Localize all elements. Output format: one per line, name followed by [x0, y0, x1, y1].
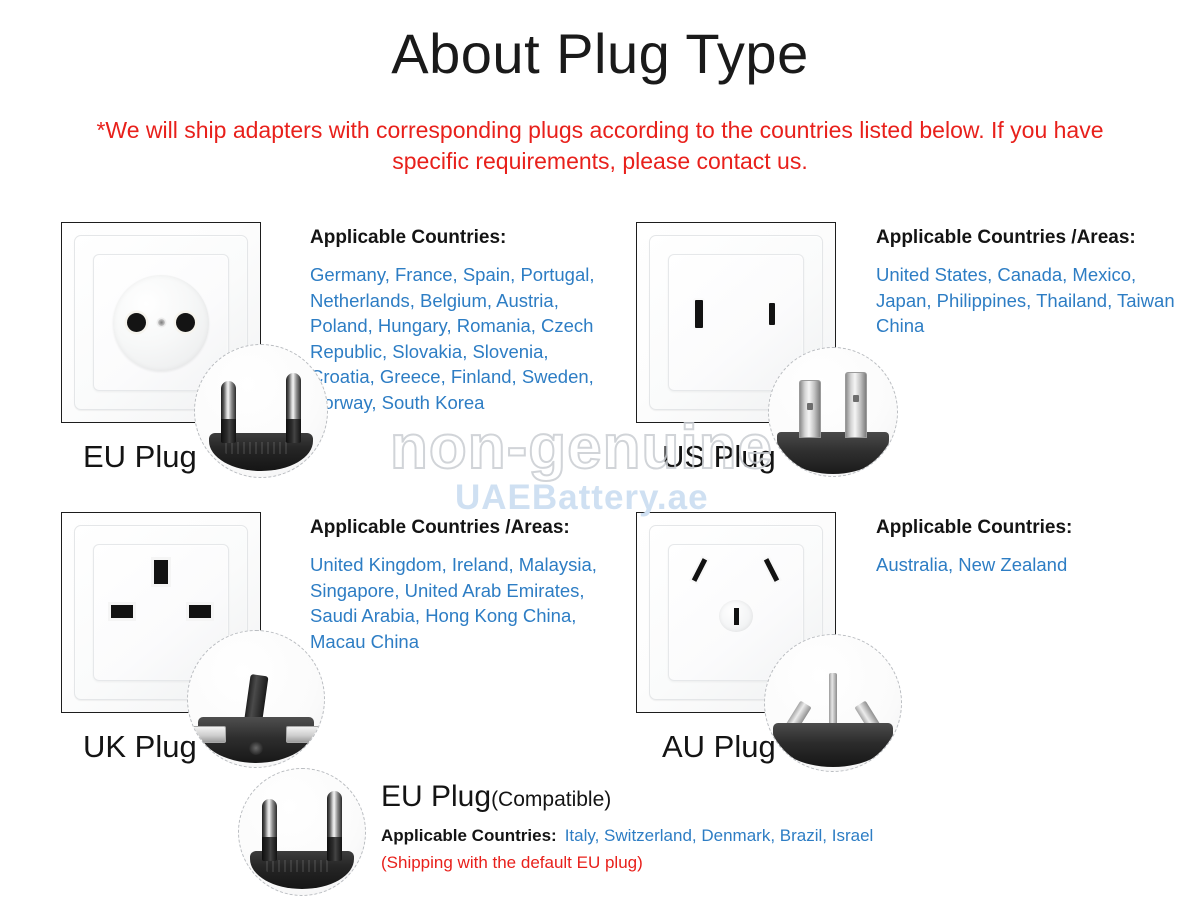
plug-photo-inset-eu [194, 344, 328, 478]
uk-plug-pin-left-icon [192, 726, 226, 743]
plug-photo-inset-eu-compatible [238, 768, 366, 896]
eu-compatible-title-suffix: (Compatible) [491, 788, 611, 811]
countries-column-au: Applicable Countries: Australia, New Zea… [876, 512, 1176, 578]
plug-photo-inset-uk [187, 630, 325, 768]
applicable-countries-au: Australia, New Zealand [876, 552, 1176, 578]
page-title: About Plug Type [0, 22, 1200, 86]
uk-slot-neutral-icon [189, 605, 211, 618]
us-plug-blade-right-icon [845, 372, 867, 438]
applicable-heading-eu: Applicable Countries: [310, 226, 610, 250]
plug-block-us: US Plug Applicable Countries /Areas: Uni… [636, 222, 836, 423]
eu-hole-right-icon [176, 313, 195, 332]
plug-photo-inset-us [768, 347, 898, 477]
plug-label-au: AU Plug [662, 730, 776, 764]
au-plug-body-icon [773, 723, 893, 767]
countries-column-us: Applicable Countries /Areas: United Stat… [876, 222, 1176, 339]
eu-compatible-countries: Italy, Switzerland, Denmark, Brazil, Isr… [565, 826, 874, 845]
plug-type-infographic: About Plug Type *We will ship adapters w… [0, 0, 1200, 900]
eu-plug-pin-left-icon [221, 381, 236, 443]
au-slot-earth-icon [734, 608, 739, 625]
plug-label-us: US Plug [662, 440, 776, 474]
eu-compatible-countries-row: Applicable Countries:Italy, Switzerland,… [381, 824, 1200, 847]
eu-round-recess [113, 275, 209, 371]
us-plug-blade-left-icon [799, 380, 821, 438]
countries-column-eu: Applicable Countries: Germany, France, S… [310, 222, 610, 415]
plug-label-uk: UK Plug [83, 730, 197, 764]
eu-compatible-shipping-note: (Shipping with the default EU plug) [381, 851, 1200, 874]
plug-photo-inset-au [764, 634, 902, 772]
au-earth-recess [719, 600, 753, 632]
us-slot-live-icon [769, 303, 776, 325]
plug-block-eu: EU Plug Applicable Countries: Germany, F… [61, 222, 261, 423]
eu-compat-plug-pin-right-icon [327, 791, 342, 861]
us-slot-neutral-icon [695, 300, 703, 328]
applicable-countries-us: United States, Canada, Mexico, Japan, Ph… [876, 262, 1176, 339]
eu-compat-plug-pin-left-icon [262, 799, 277, 861]
eu-compatible-title: EU Plug(Compatible) [381, 780, 1200, 817]
us-plug-body-icon [777, 432, 889, 474]
au-slot-active-icon [692, 558, 707, 582]
applicable-heading-us: Applicable Countries /Areas: [876, 226, 1176, 250]
plug-block-uk: UK Plug Applicable Countries /Areas: Uni… [61, 512, 261, 713]
shipping-note: *We will ship adapters with correspondin… [60, 115, 1140, 177]
eu-compatible-text: EU Plug(Compatible) Applicable Countries… [381, 780, 1200, 874]
eu-compatible-title-main: EU Plug [381, 780, 491, 813]
eu-compatible-heading: Applicable Countries: [381, 826, 557, 845]
plug-photo-inset-wrap-eu-compatible [238, 768, 364, 894]
applicable-heading-au: Applicable Countries: [876, 516, 1176, 540]
applicable-countries-eu: Germany, France, Spain, Portugal, Nether… [310, 262, 610, 415]
eu-plug-pin-right-icon [286, 373, 301, 443]
countries-column-uk: Applicable Countries /Areas: United King… [310, 512, 610, 654]
plug-block-au: AU Plug Applicable Countries: Australia,… [636, 512, 836, 713]
eu-center-pin-icon [158, 319, 165, 326]
uk-slot-earth-icon [154, 560, 168, 584]
uk-plug-pin-right-icon [286, 726, 320, 743]
applicable-heading-uk: Applicable Countries /Areas: [310, 516, 610, 540]
uk-slot-live-icon [111, 605, 133, 618]
au-slot-neutral-icon [764, 558, 779, 582]
eu-hole-left-icon [127, 313, 146, 332]
plug-label-eu: EU Plug [83, 440, 197, 474]
applicable-countries-uk: United Kingdom, Ireland, Malaysia, Singa… [310, 552, 610, 654]
